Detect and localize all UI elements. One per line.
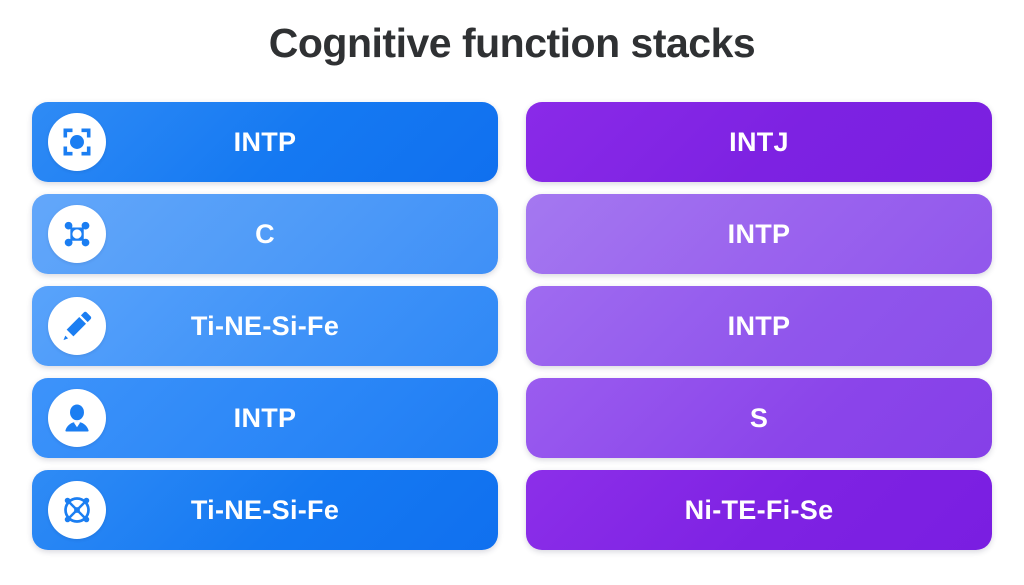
stack-pill-left-5[interactable]: Ti-NE-Si-Fe bbox=[32, 470, 498, 550]
person-icon bbox=[48, 389, 106, 447]
pen-icon bbox=[48, 297, 106, 355]
stack-pill-label: Ti-NE-Si-Fe bbox=[191, 313, 339, 340]
stack-pill-left-1[interactable]: INTP bbox=[32, 102, 498, 182]
stack-pill-left-4[interactable]: INTP bbox=[32, 378, 498, 458]
stack-pill-left-2[interactable]: C bbox=[32, 194, 498, 274]
stack-pill-label: INTP bbox=[234, 405, 297, 432]
stack-grid: INTP INTJ C INTP bbox=[32, 102, 992, 562]
page-title: Cognitive function stacks bbox=[0, 20, 1024, 67]
stack-pill-left-3[interactable]: Ti-NE-Si-Fe bbox=[32, 286, 498, 366]
stack-pill-label: S bbox=[750, 405, 768, 432]
stack-pill-label: Ti-NE-Si-Fe bbox=[191, 497, 339, 524]
stack-pill-right-4[interactable]: S bbox=[526, 378, 992, 458]
stack-pill-label: INTJ bbox=[729, 129, 789, 156]
stack-pill-right-1[interactable]: INTJ bbox=[526, 102, 992, 182]
stack-pill-label: INTP bbox=[234, 129, 297, 156]
focus-frame-icon bbox=[48, 113, 106, 171]
stack-pill-label: C bbox=[255, 221, 275, 248]
stack-pill-right-3[interactable]: INTP bbox=[526, 286, 992, 366]
cognitive-function-stacks-page: Cognitive function stacks INTP INTJ bbox=[0, 0, 1024, 585]
hub-network-icon bbox=[48, 481, 106, 539]
knot-node-icon bbox=[48, 205, 106, 263]
stack-pill-label: Ni-TE-Fi-Se bbox=[685, 497, 834, 524]
stack-pill-right-5[interactable]: Ni-TE-Fi-Se bbox=[526, 470, 992, 550]
stack-pill-label: INTP bbox=[728, 221, 791, 248]
stack-pill-right-2[interactable]: INTP bbox=[526, 194, 992, 274]
stack-pill-label: INTP bbox=[728, 313, 791, 340]
